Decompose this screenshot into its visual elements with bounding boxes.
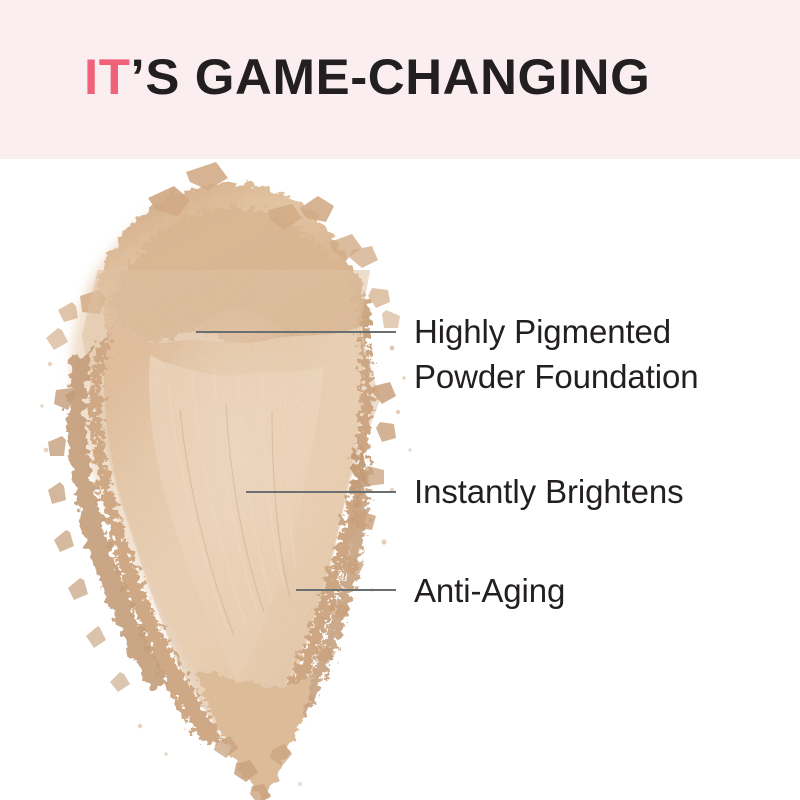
promo-graphic: IT’S GAME-CHANGING xyxy=(0,0,800,800)
headline-accent-text: IT xyxy=(84,49,131,105)
headline-rest-text: ’S GAME-CHANGING xyxy=(131,49,651,105)
callout-label-anti-aging: Anti-Aging xyxy=(414,568,565,613)
powder-swatch-svg xyxy=(0,150,470,800)
page-title: IT’S GAME-CHANGING xyxy=(84,48,650,106)
leader-line-3 xyxy=(296,589,396,591)
product-swatch-image xyxy=(0,150,470,800)
leader-line-1 xyxy=(196,331,396,333)
callout-label-highly-pigmented: Highly Pigmented Powder Foundation xyxy=(414,309,699,399)
callout-label-instantly-brightens: Instantly Brightens xyxy=(414,469,684,514)
leader-line-2 xyxy=(246,491,396,493)
